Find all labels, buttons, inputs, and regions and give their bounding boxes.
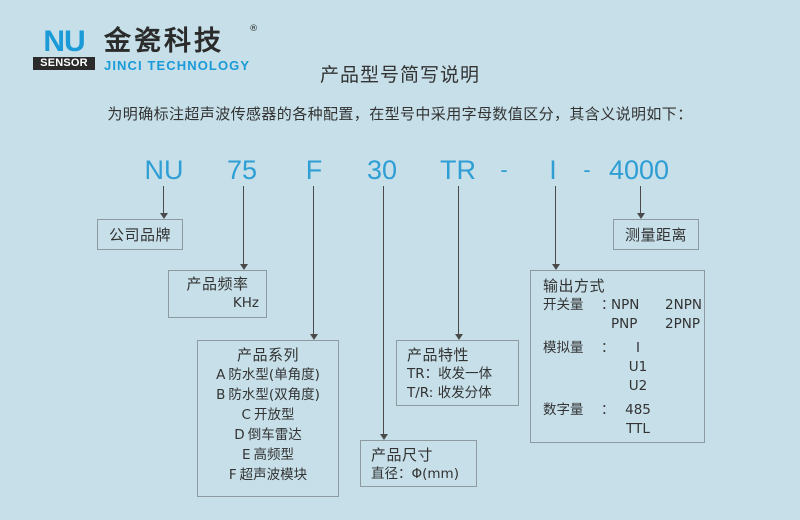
page-canvas: NU SENSOR 金瓷科技 ® JINCI TECHNOLOGY 产品型号简写…	[0, 0, 800, 520]
output-group-label: 模拟量	[543, 339, 601, 358]
model-code-token: F	[288, 155, 340, 185]
series-row: E高频型	[208, 445, 328, 465]
series-row: D倒车雷达	[208, 425, 328, 445]
series-row-key: D	[234, 427, 244, 443]
output-row: U1	[543, 358, 704, 377]
callout-distance-title: 测量距离	[625, 225, 687, 245]
series-row-label: 倒车雷达	[248, 427, 302, 443]
output-group-label	[543, 420, 601, 439]
callout-series-title: 产品系列	[208, 345, 328, 365]
logo-nu-text: NU	[33, 28, 95, 56]
output-group-colon	[601, 377, 611, 396]
output-value-secondary: 2NPN	[665, 296, 719, 315]
output-row: U2	[543, 377, 704, 396]
feature-row: T/R: 收发分体	[407, 384, 518, 403]
feature-row: TR：收发一体	[407, 365, 518, 384]
model-code-token: 75	[216, 155, 268, 185]
callout-box-frequency: 产品频率 KHz	[168, 270, 267, 318]
model-code-token: NU	[138, 155, 190, 185]
output-value-primary: PNP	[611, 315, 665, 334]
output-group-colon: ：	[601, 296, 611, 315]
output-group-label	[543, 315, 601, 334]
series-row-label: 开放型	[254, 407, 295, 423]
connector-line-output	[555, 186, 556, 264]
callout-series-rows: A防水型(单角度)B防水型(双角度)C开放型D倒车雷达E高频型F超声波模块	[208, 365, 328, 485]
model-code-token: 4000	[600, 155, 678, 185]
output-group-label: 数字量	[543, 401, 601, 420]
output-group-colon	[601, 358, 611, 377]
output-value-secondary	[665, 420, 719, 439]
output-value-primary: NPN	[611, 296, 665, 315]
output-value-primary: U1	[611, 358, 665, 377]
registered-trademark-icon: ®	[249, 25, 261, 34]
page-title: 产品型号简写说明	[0, 63, 800, 87]
output-row: 数字量：485	[543, 401, 704, 420]
size-row: 直径：Φ(mm)	[371, 465, 476, 484]
connector-line-frequency	[243, 186, 244, 264]
callout-brand-title: 公司品牌	[109, 225, 171, 245]
output-value-primary: U2	[611, 377, 665, 396]
output-group-colon: ：	[601, 401, 611, 420]
callout-output-groups: 开关量：NPN2NPNPNP2PNP模拟量：IU1U2数字量：485TTL	[543, 296, 704, 439]
output-value-secondary	[665, 339, 719, 358]
callout-size-title: 产品尺寸	[371, 445, 476, 465]
logo-company-cn-text: 金瓷科技	[104, 26, 224, 57]
series-row-key: F	[229, 467, 237, 483]
connector-line-distance	[640, 186, 641, 213]
output-value-secondary	[665, 377, 719, 396]
output-row: 开关量：NPN2NPN	[543, 296, 704, 315]
output-value-secondary: 2PNP	[665, 315, 719, 334]
output-row: 模拟量：I	[543, 339, 704, 358]
model-code-token: I	[538, 155, 568, 185]
connector-line-series	[313, 186, 314, 334]
callout-feature-rows: TR：收发一体T/R: 收发分体	[407, 365, 518, 403]
output-group-label	[543, 358, 601, 377]
callout-frequency-title: 产品频率	[176, 274, 259, 294]
output-group-label: 开关量	[543, 296, 601, 315]
model-code-separator: -	[489, 155, 519, 185]
model-code-separator: -	[572, 155, 602, 185]
callout-feature-title: 产品特性	[407, 345, 518, 365]
output-group-colon	[601, 420, 611, 439]
callout-size-rows: 直径：Φ(mm)	[371, 465, 476, 484]
model-code-token: TR	[432, 155, 484, 185]
connector-line-feature	[458, 186, 459, 334]
callout-box-feature: 产品特性 TR：收发一体T/R: 收发分体	[396, 340, 519, 406]
series-row-key: A	[216, 367, 225, 383]
output-value-secondary	[665, 358, 719, 377]
callout-box-output: 输出方式 开关量：NPN2NPNPNP2PNP模拟量：IU1U2数字量：485T…	[530, 270, 705, 443]
series-row: C开放型	[208, 405, 328, 425]
series-row-label: 防水型(双角度)	[228, 387, 320, 403]
output-value-primary: I	[611, 339, 665, 358]
series-row-label: 高频型	[254, 447, 295, 463]
output-group-colon	[601, 315, 611, 334]
output-value-primary: TTL	[611, 420, 665, 439]
series-row: B防水型(双角度)	[208, 385, 328, 405]
output-group-colon: ：	[601, 339, 611, 358]
series-row-key: E	[242, 447, 251, 463]
series-row: F超声波模块	[208, 465, 328, 485]
callout-box-brand: 公司品牌	[97, 219, 183, 250]
page-subtitle: 为明确标注超声波传感器的各种配置，在型号中采用字母数值区分，其含义说明如下：	[0, 104, 800, 124]
callout-box-distance: 测量距离	[613, 219, 699, 250]
series-row-label: 防水型(单角度)	[228, 367, 320, 383]
output-group-label	[543, 377, 601, 396]
connector-line-size	[383, 186, 384, 434]
callout-output-title: 输出方式	[543, 276, 704, 296]
series-row-key: C	[242, 407, 251, 423]
output-row: TTL	[543, 420, 704, 439]
callout-box-size: 产品尺寸 直径：Φ(mm)	[360, 440, 477, 487]
callout-box-series: 产品系列 A防水型(单角度)B防水型(双角度)C开放型D倒车雷达E高频型F超声波…	[197, 340, 339, 497]
connector-line-brand	[163, 186, 164, 213]
callout-frequency-unit: KHz	[176, 294, 259, 313]
logo-company-cn: 金瓷科技 ®	[104, 28, 250, 56]
series-row-label: 超声波模块	[240, 467, 308, 483]
series-row-key: B	[216, 387, 225, 403]
output-row: PNP2PNP	[543, 315, 704, 334]
series-row: A防水型(单角度)	[208, 365, 328, 385]
output-value-secondary	[665, 401, 719, 420]
model-code-token: 30	[356, 155, 408, 185]
output-value-primary: 485	[611, 401, 665, 420]
